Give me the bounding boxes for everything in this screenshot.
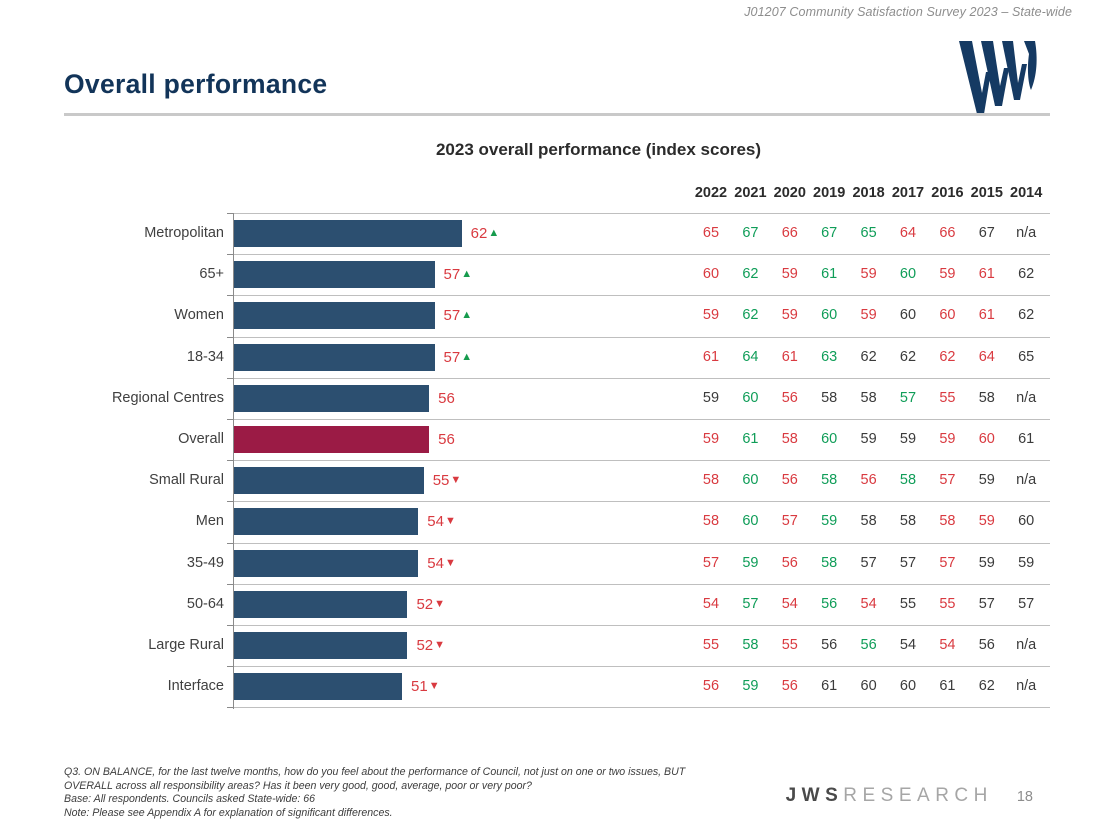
bar-35-49 <box>234 550 418 577</box>
axis-tick <box>227 625 234 626</box>
year-cell-2017: 59 <box>888 419 928 460</box>
year-cell-2015: 67 <box>967 213 1007 254</box>
year-cell-2022: 59 <box>691 295 731 336</box>
year-cell-2015: 59 <box>967 501 1007 542</box>
year-cell-2018: 59 <box>849 295 889 336</box>
significance-up-icon: ▲ <box>461 261 472 288</box>
year-cell-2019: 61 <box>809 254 849 295</box>
year-cell-2021: 67 <box>730 213 770 254</box>
title-divider <box>64 113 1050 116</box>
year-cell-2020: 59 <box>770 254 810 295</box>
footnote-line-2: OVERALL across all responsibility areas?… <box>64 780 764 794</box>
brand-jws-text: JWS <box>786 785 844 806</box>
grid-line <box>233 419 1050 420</box>
year-cell-2015: 61 <box>967 295 1007 336</box>
year-cell-2017: 57 <box>888 543 928 584</box>
bar-value-number: 57 <box>444 349 461 366</box>
grid-line <box>233 295 1050 296</box>
row-label-50-64: 50-64 <box>64 584 224 625</box>
year-cell-2022: 65 <box>691 213 731 254</box>
page-header: J01207 Community Satisfaction Survey 202… <box>0 0 1097 120</box>
row-label-small-rural: Small Rural <box>64 460 224 501</box>
year-header-2018: 2018 <box>849 183 889 207</box>
year-cell-2015: 57 <box>967 584 1007 625</box>
bar-value-number: 54 <box>427 555 444 572</box>
year-cell-2018: 62 <box>849 337 889 378</box>
bar-interface <box>234 673 402 700</box>
bar-value-label: 56 <box>438 385 455 412</box>
bar-value-number: 56 <box>438 390 455 407</box>
page-number: 18 <box>1017 789 1033 805</box>
year-cell-2015: 58 <box>967 378 1007 419</box>
year-cell-2019: 60 <box>809 419 849 460</box>
bar-small-rural <box>234 467 424 494</box>
year-cell-2014: 61 <box>1006 419 1046 460</box>
year-cell-2014: 62 <box>1006 254 1046 295</box>
year-cell-2018: 58 <box>849 501 889 542</box>
chart-row: Men54▼586057595858585960 <box>64 501 1050 542</box>
year-cell-2021: 60 <box>730 460 770 501</box>
bar-overall <box>234 426 429 453</box>
bar-metropolitan <box>234 220 462 247</box>
axis-tick <box>227 295 234 296</box>
footnote-line-3: Base: All respondents. Councils asked St… <box>64 793 764 807</box>
year-cell-2017: 60 <box>888 254 928 295</box>
year-cell-2016: 55 <box>927 378 967 419</box>
year-cell-2020: 56 <box>770 543 810 584</box>
bar-women <box>234 302 435 329</box>
bar-value-number: 52 <box>416 596 433 613</box>
year-cell-2017: 60 <box>888 295 928 336</box>
bar-value-label: 62▲ <box>471 220 500 247</box>
year-cell-2015: 60 <box>967 419 1007 460</box>
year-header-2021: 2021 <box>730 183 770 207</box>
year-cell-2015: 59 <box>967 543 1007 584</box>
year-cell-2018: 58 <box>849 378 889 419</box>
grid-line <box>233 378 1050 379</box>
axis-tick <box>227 707 234 708</box>
year-cell-2014: 59 <box>1006 543 1046 584</box>
row-label-35-49: 35-49 <box>64 543 224 584</box>
chart-row: Small Rural55▼5860565856585759n/a <box>64 460 1050 501</box>
bar-value-number: 57 <box>444 307 461 324</box>
year-header-2015: 2015 <box>967 183 1007 207</box>
bar-regional-centres <box>234 385 429 412</box>
brand-research-text: RESEARCH <box>843 785 993 806</box>
axis-tick <box>227 460 234 461</box>
year-cell-2017: 60 <box>888 666 928 707</box>
year-cell-2020: 54 <box>770 584 810 625</box>
year-cell-2014: n/a <box>1006 378 1046 419</box>
bar-value-number: 57 <box>444 266 461 283</box>
grid-line <box>233 254 1050 255</box>
bar-value-label: 57▲ <box>444 344 473 371</box>
year-cell-2016: 58 <box>927 501 967 542</box>
axis-tick <box>227 543 234 544</box>
year-header-2020: 2020 <box>770 183 810 207</box>
significance-down-icon: ▼ <box>445 508 456 535</box>
year-cell-2021: 59 <box>730 666 770 707</box>
year-cell-2014: 60 <box>1006 501 1046 542</box>
chart-row: 35-4954▼575956585757575959 <box>64 543 1050 584</box>
year-cell-2020: 61 <box>770 337 810 378</box>
year-cell-2015: 62 <box>967 666 1007 707</box>
axis-tick <box>227 254 234 255</box>
axis-tick <box>227 378 234 379</box>
year-cell-2016: 60 <box>927 295 967 336</box>
year-cell-2019: 61 <box>809 666 849 707</box>
year-cell-2022: 59 <box>691 378 731 419</box>
year-cell-2019: 60 <box>809 295 849 336</box>
year-cell-2015: 64 <box>967 337 1007 378</box>
jws-monogram-logo <box>955 38 1041 116</box>
chart-row: Women57▲596259605960606162 <box>64 295 1050 336</box>
significance-down-icon: ▼ <box>450 467 461 494</box>
axis-tick <box>227 584 234 585</box>
year-cell-2020: 55 <box>770 625 810 666</box>
bar-value-label: 51▼ <box>411 673 440 700</box>
year-header-row: 202220212020201920182017201620152014 <box>64 183 1050 207</box>
year-cell-2015: 56 <box>967 625 1007 666</box>
row-label-large-rural: Large Rural <box>64 625 224 666</box>
year-cell-2018: 65 <box>849 213 889 254</box>
year-cell-2018: 54 <box>849 584 889 625</box>
year-cell-2022: 58 <box>691 460 731 501</box>
grid-line <box>233 666 1050 667</box>
chart-row: 65+57▲606259615960596162 <box>64 254 1050 295</box>
footnote-block: Q3. ON BALANCE, for the last twelve mont… <box>64 766 764 820</box>
year-header-2022: 2022 <box>691 183 731 207</box>
year-cell-2017: 58 <box>888 501 928 542</box>
chart-row: Metropolitan62▲6567666765646667n/a <box>64 213 1050 254</box>
bar-18-34 <box>234 344 435 371</box>
bar-50-64 <box>234 591 407 618</box>
year-cell-2016: 59 <box>927 419 967 460</box>
bar-value-label: 57▲ <box>444 302 473 329</box>
year-cell-2016: 54 <box>927 625 967 666</box>
year-cell-2018: 59 <box>849 254 889 295</box>
year-cell-2021: 60 <box>730 378 770 419</box>
grid-line <box>233 584 1050 585</box>
year-cell-2020: 57 <box>770 501 810 542</box>
year-header-2014: 2014 <box>1006 183 1046 207</box>
row-label-metropolitan: Metropolitan <box>64 213 224 254</box>
year-cell-2016: 61 <box>927 666 967 707</box>
brand-footer: JWSRESEARCH 18 <box>786 785 1033 807</box>
year-cell-2019: 67 <box>809 213 849 254</box>
year-cell-2016: 66 <box>927 213 967 254</box>
year-cell-2018: 57 <box>849 543 889 584</box>
year-cell-2022: 56 <box>691 666 731 707</box>
row-label-men: Men <box>64 501 224 542</box>
bar-value-number: 54 <box>427 513 444 530</box>
year-cell-2019: 58 <box>809 460 849 501</box>
grid-line <box>233 213 1050 214</box>
year-cell-2014: n/a <box>1006 460 1046 501</box>
year-cell-2021: 62 <box>730 295 770 336</box>
chart-row: Overall56596158605959596061 <box>64 419 1050 460</box>
year-cell-2020: 66 <box>770 213 810 254</box>
year-cell-2022: 57 <box>691 543 731 584</box>
significance-down-icon: ▼ <box>429 673 440 700</box>
bar-value-number: 51 <box>411 678 428 695</box>
axis-tick <box>227 419 234 420</box>
year-cell-2021: 64 <box>730 337 770 378</box>
chart-title: 2023 overall performance (index scores) <box>0 140 1097 160</box>
year-cell-2019: 56 <box>809 584 849 625</box>
year-cell-2021: 60 <box>730 501 770 542</box>
bar-value-label: 56 <box>438 426 455 453</box>
row-label-65-: 65+ <box>64 254 224 295</box>
bar-value-number: 55 <box>433 472 450 489</box>
year-header-2019: 2019 <box>809 183 849 207</box>
grid-line <box>233 707 1050 708</box>
document-reference: J01207 Community Satisfaction Survey 202… <box>744 5 1072 19</box>
year-cell-2020: 56 <box>770 460 810 501</box>
row-label-interface: Interface <box>64 666 224 707</box>
grid-line <box>233 460 1050 461</box>
year-cell-2017: 64 <box>888 213 928 254</box>
bar-value-number: 52 <box>416 637 433 654</box>
significance-up-icon: ▲ <box>461 344 472 371</box>
year-cell-2020: 56 <box>770 666 810 707</box>
year-header-2017: 2017 <box>888 183 928 207</box>
chart-container: 202220212020201920182017201620152014 Met… <box>64 183 1050 711</box>
year-cell-2017: 54 <box>888 625 928 666</box>
year-cell-2016: 62 <box>927 337 967 378</box>
year-cell-2022: 61 <box>691 337 731 378</box>
year-cell-2016: 57 <box>927 460 967 501</box>
year-cell-2016: 55 <box>927 584 967 625</box>
row-label-regional-centres: Regional Centres <box>64 378 224 419</box>
year-cell-2018: 56 <box>849 625 889 666</box>
footnote-line-1: Q3. ON BALANCE, for the last twelve mont… <box>64 766 764 780</box>
year-cell-2019: 63 <box>809 337 849 378</box>
bar-value-label: 54▼ <box>427 508 456 535</box>
year-cell-2018: 60 <box>849 666 889 707</box>
bar-value-number: 62 <box>471 225 488 242</box>
row-label-women: Women <box>64 295 224 336</box>
significance-up-icon: ▲ <box>461 302 472 329</box>
year-cell-2021: 62 <box>730 254 770 295</box>
grid-line <box>233 543 1050 544</box>
grid-line <box>233 501 1050 502</box>
year-cell-2021: 61 <box>730 419 770 460</box>
year-cell-2015: 61 <box>967 254 1007 295</box>
year-cell-2014: 65 <box>1006 337 1046 378</box>
significance-up-icon: ▲ <box>488 220 499 247</box>
bar-value-label: 52▼ <box>416 591 445 618</box>
axis-tick <box>227 337 234 338</box>
axis-tick <box>227 501 234 502</box>
year-cell-2022: 59 <box>691 419 731 460</box>
significance-down-icon: ▼ <box>445 550 456 577</box>
axis-tick <box>227 213 234 214</box>
bar-men <box>234 508 418 535</box>
year-cell-2019: 59 <box>809 501 849 542</box>
year-cell-2022: 54 <box>691 584 731 625</box>
chart-row: Regional Centres565960565858575558n/a <box>64 378 1050 419</box>
grid-line <box>233 625 1050 626</box>
year-cell-2021: 59 <box>730 543 770 584</box>
axis-tick <box>227 666 234 667</box>
chart-row: 50-6452▼545754565455555757 <box>64 584 1050 625</box>
year-cell-2020: 58 <box>770 419 810 460</box>
year-cell-2020: 59 <box>770 295 810 336</box>
bar-value-label: 52▼ <box>416 632 445 659</box>
grid-line <box>233 337 1050 338</box>
year-cell-2017: 62 <box>888 337 928 378</box>
year-cell-2014: 57 <box>1006 584 1046 625</box>
year-cell-2022: 58 <box>691 501 731 542</box>
year-cell-2018: 56 <box>849 460 889 501</box>
year-cell-2017: 55 <box>888 584 928 625</box>
year-cell-2014: n/a <box>1006 666 1046 707</box>
page-title: Overall performance <box>64 69 327 100</box>
footnote-line-4: Note: Please see Appendix A for explanat… <box>64 807 764 821</box>
significance-down-icon: ▼ <box>434 591 445 618</box>
bar-value-number: 56 <box>438 431 455 448</box>
chart-row: 18-3457▲616461636262626465 <box>64 337 1050 378</box>
year-cell-2021: 57 <box>730 584 770 625</box>
year-cell-2014: n/a <box>1006 625 1046 666</box>
year-cell-2016: 59 <box>927 254 967 295</box>
year-cell-2018: 59 <box>849 419 889 460</box>
bar-large-rural <box>234 632 407 659</box>
year-cell-2017: 58 <box>888 460 928 501</box>
year-cell-2015: 59 <box>967 460 1007 501</box>
year-header-2016: 2016 <box>927 183 967 207</box>
chart-row: Interface51▼5659566160606162n/a <box>64 666 1050 707</box>
year-cell-2019: 58 <box>809 543 849 584</box>
significance-down-icon: ▼ <box>434 632 445 659</box>
bar-65- <box>234 261 435 288</box>
bar-value-label: 54▼ <box>427 550 456 577</box>
year-cell-2022: 55 <box>691 625 731 666</box>
bar-value-label: 55▼ <box>433 467 462 494</box>
year-cell-2019: 58 <box>809 378 849 419</box>
year-cell-2017: 57 <box>888 378 928 419</box>
year-cell-2014: 62 <box>1006 295 1046 336</box>
year-cell-2016: 57 <box>927 543 967 584</box>
year-cell-2019: 56 <box>809 625 849 666</box>
row-label-18-34: 18-34 <box>64 337 224 378</box>
bar-value-label: 57▲ <box>444 261 473 288</box>
row-label-overall: Overall <box>64 419 224 460</box>
year-cell-2020: 56 <box>770 378 810 419</box>
chart-row: Large Rural52▼5558555656545456n/a <box>64 625 1050 666</box>
year-cell-2021: 58 <box>730 625 770 666</box>
year-cell-2014: n/a <box>1006 213 1046 254</box>
jws-research-wordmark: JWSRESEARCH <box>786 785 993 807</box>
year-cell-2022: 60 <box>691 254 731 295</box>
